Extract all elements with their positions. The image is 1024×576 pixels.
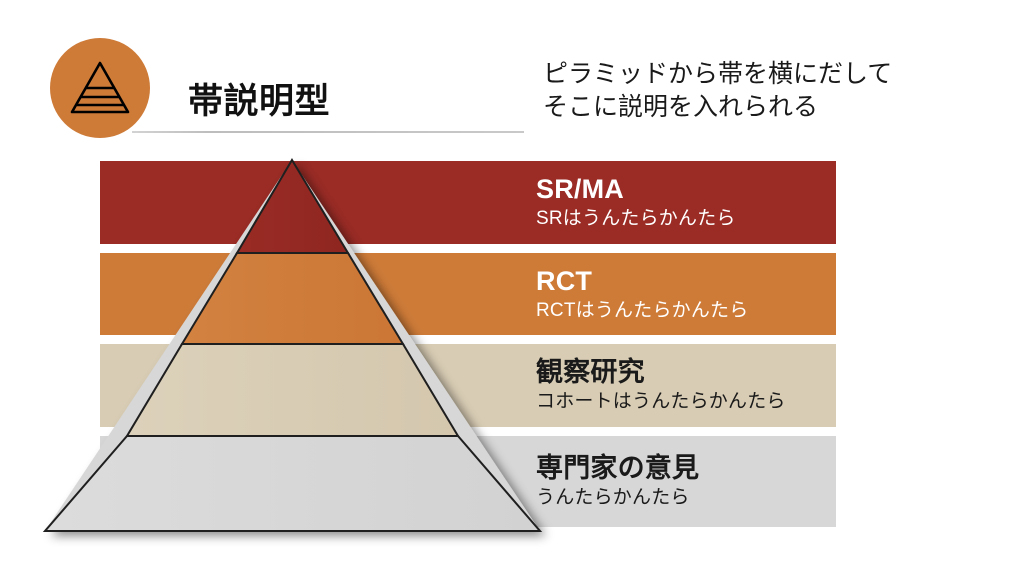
band-row-expert-opinion[interactable]: 専門家の意見 うんたらかんたら bbox=[100, 436, 836, 527]
band-title: 観察研究 bbox=[536, 357, 836, 387]
pyramid-diagram: SR/MA SRはうんたらかんたら RCT RCTはうんたらかんたら 観察研究 … bbox=[0, 0, 1024, 576]
band-title: SR/MA bbox=[536, 174, 836, 204]
band-row-rct[interactable]: RCT RCTはうんたらかんたら bbox=[100, 253, 836, 335]
band-description: コホートはうんたらかんたら bbox=[536, 390, 836, 414]
slide-canvas: 帯説明型 ピラミッドから帯を横にだして そこに説明を入れられる SR/MA SR… bbox=[0, 0, 1024, 576]
band-row-observational[interactable]: 観察研究 コホートはうんたらかんたら bbox=[100, 344, 836, 427]
band-description: うんたらかんたら bbox=[536, 486, 836, 510]
band-description: SRはうんたらかんたら bbox=[536, 207, 836, 231]
band-title: RCT bbox=[536, 266, 836, 296]
band-title: 専門家の意見 bbox=[536, 453, 836, 483]
band-row-sr-ma[interactable]: SR/MA SRはうんたらかんたら bbox=[100, 161, 836, 244]
band-description: RCTはうんたらかんたら bbox=[536, 299, 836, 323]
